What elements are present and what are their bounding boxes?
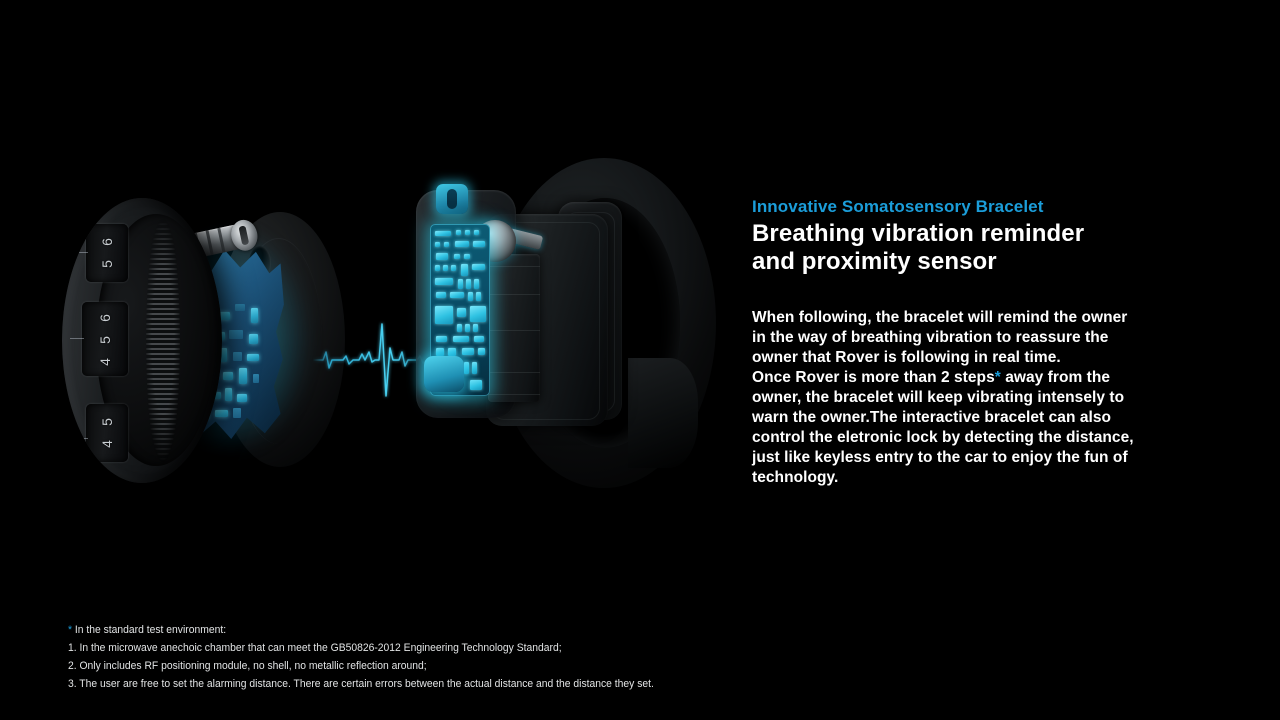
lock-knurled-teeth bbox=[146, 208, 180, 473]
body-line-7: control the eletronic lock by detecting … bbox=[752, 428, 1212, 448]
body-line-3: owner that Rover is following in real ti… bbox=[752, 348, 1212, 368]
footnote-item-3: 3. The user are free to set the alarming… bbox=[68, 675, 914, 693]
smart-bracelet-cutaway bbox=[400, 158, 730, 533]
headline-line-1: Breathing vibration reminder bbox=[752, 220, 1212, 248]
body-line-6: warn the owner.The interactive bracelet … bbox=[752, 408, 1212, 428]
bracelet-antenna-module bbox=[424, 356, 464, 392]
bracelet-battery bbox=[488, 254, 540, 402]
smart-lock-cutaway: 6 5 6 5 4 5 4 bbox=[60, 190, 350, 490]
dial-window-bottom[interactable]: 5 4 bbox=[86, 404, 128, 462]
marketing-text-column: Innovative Somatosensory Bracelet Breath… bbox=[752, 196, 1212, 488]
dial-window-middle[interactable]: 6 5 4 bbox=[82, 302, 128, 376]
product-illustration: 6 5 6 5 4 5 4 bbox=[0, 150, 740, 550]
footnote-item-2: 2. Only includes RF positioning module, … bbox=[68, 657, 914, 675]
body-line-9: technology. bbox=[752, 468, 1212, 488]
headline-line-2: and proximity sensor bbox=[752, 248, 1212, 276]
footnote-intro-text: In the standard test environment: bbox=[72, 624, 226, 636]
page-title: Breathing vibration reminder and proximi… bbox=[752, 220, 1212, 276]
body-line-8: just like keyless entry to the car to en… bbox=[752, 448, 1212, 468]
body-line-4-tail: away from the bbox=[1001, 369, 1110, 386]
body-line-4-text: Once Rover is more than 2 steps bbox=[752, 369, 995, 386]
slide-canvas: 6 5 6 5 4 5 4 bbox=[0, 0, 1280, 720]
dial-digit: 4 bbox=[99, 423, 115, 462]
footnote-item-1: 1. In the microwave anechoic chamber tha… bbox=[68, 639, 914, 657]
dial-window-top[interactable]: 6 5 bbox=[86, 224, 128, 282]
body-line-2: in the way of breathing vibration to rea… bbox=[752, 328, 1212, 348]
body-line-4: Once Rover is more than 2 steps* away fr… bbox=[752, 368, 1212, 388]
dial-digit: 4 bbox=[97, 339, 113, 376]
body-line-5: owner, the bracelet will keep vibrating … bbox=[752, 388, 1212, 408]
body-line-1: When following, the bracelet will remind… bbox=[752, 308, 1212, 328]
eyebrow-heading: Innovative Somatosensory Bracelet bbox=[752, 196, 1212, 218]
footnote-intro: * In the standard test environment: bbox=[68, 621, 914, 639]
bracelet-proximity-sensor bbox=[436, 184, 468, 214]
footnotes-block: * In the standard test environment: 1. I… bbox=[68, 621, 914, 693]
dial-digit: 5 bbox=[99, 243, 115, 282]
body-description: When following, the bracelet will remind… bbox=[752, 308, 1212, 488]
bracelet-strap-tail bbox=[628, 358, 698, 468]
lock-dial-ring: 6 5 6 5 4 5 4 bbox=[62, 198, 222, 483]
